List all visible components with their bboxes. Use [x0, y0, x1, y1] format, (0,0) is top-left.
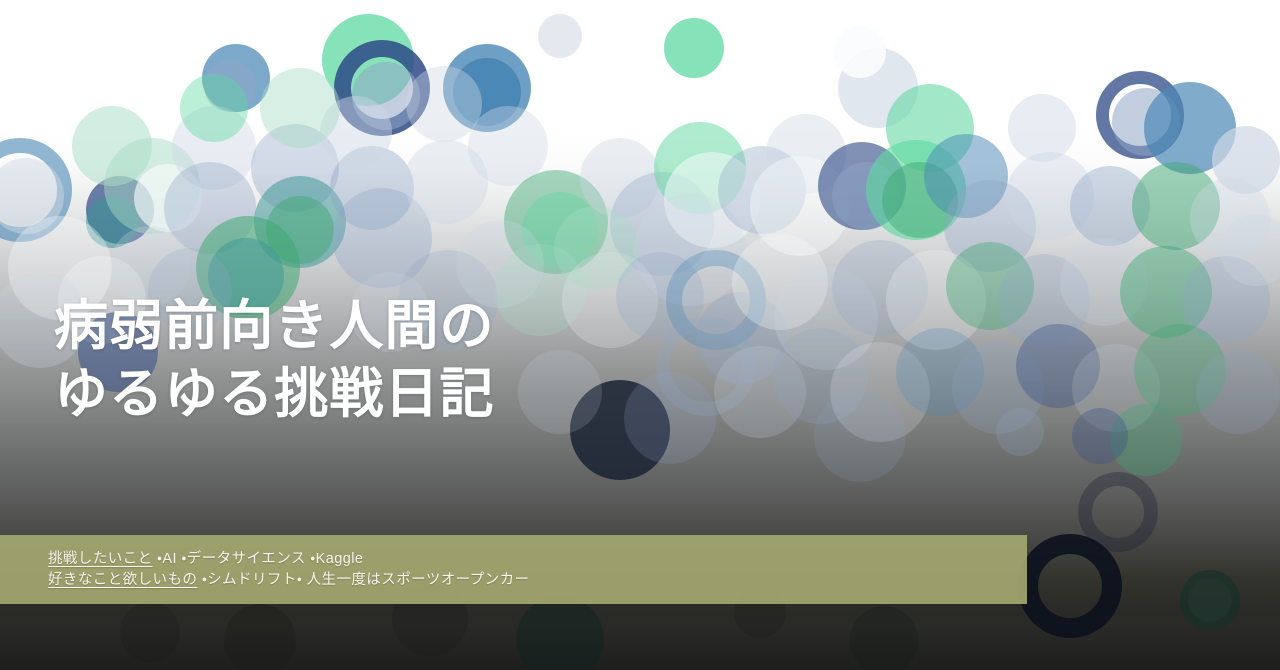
bokeh-circle	[538, 14, 582, 58]
title-line-1: 病弱前向き人間の	[54, 292, 495, 360]
info-row-challenges-value: ・AI ・データサイエンス ・Kaggle	[153, 551, 364, 567]
title-line-2: ゆるゆる挑戦日記	[54, 360, 495, 428]
bokeh-circle	[1188, 578, 1232, 622]
bokeh-circle	[996, 408, 1044, 456]
bokeh-circle	[850, 606, 918, 670]
bokeh-circle	[224, 604, 296, 670]
info-row-favorites: 好きなこと欲しいもの ・シムドリフト・ 人生一度はスポーツオープンカー	[48, 570, 1027, 591]
blog-header-banner: 病弱前向き人間の ゆるゆる挑戦日記 挑戦したいこと ・AI ・データサイエンス …	[0, 0, 1280, 670]
bokeh-circle	[664, 18, 724, 78]
info-row-favorites-key: 好きなこと欲しいもの	[48, 572, 197, 588]
bokeh-circle	[624, 372, 716, 464]
info-row-favorites-value: ・シムドリフト・ 人生一度はスポーツオープンカー	[197, 572, 529, 588]
bokeh-circle	[1008, 94, 1076, 162]
page-title: 病弱前向き人間の ゆるゆる挑戦日記	[54, 292, 495, 428]
bokeh-circle	[180, 74, 248, 142]
bokeh-circle	[1072, 408, 1128, 464]
info-row-challenges-key: 挑戦したいこと	[48, 551, 153, 567]
bokeh-circle	[814, 390, 906, 482]
bokeh-circle	[260, 68, 340, 148]
bokeh-circle	[120, 602, 180, 662]
info-row-challenges: 挑戦したいこと ・AI ・データサイエンス ・Kaggle	[48, 549, 1027, 570]
bokeh-circle	[1018, 534, 1122, 638]
bokeh-circle	[516, 596, 604, 670]
bokeh-circle	[834, 26, 886, 78]
info-panel: 挑戦したいこと ・AI ・データサイエンス ・Kaggle 好きなこと欲しいもの…	[0, 535, 1027, 604]
bokeh-circle	[518, 350, 602, 434]
bokeh-circle	[1196, 350, 1280, 434]
